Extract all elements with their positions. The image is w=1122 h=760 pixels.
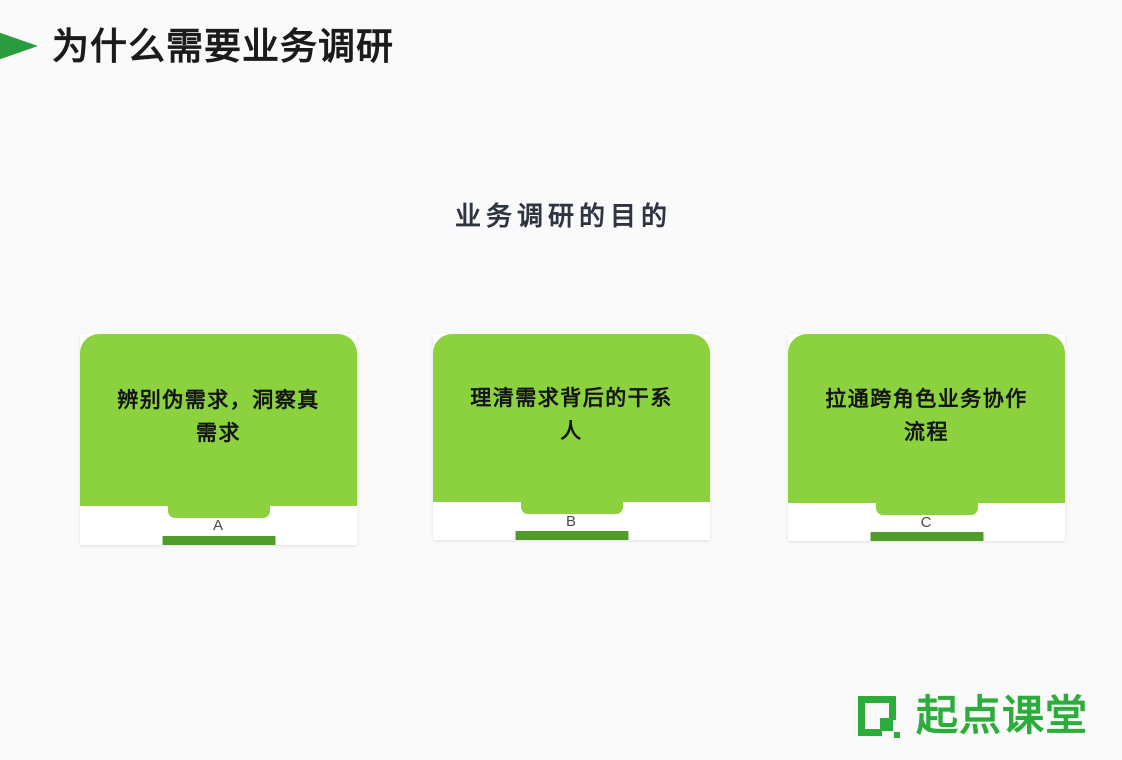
brand-logo: 起点课堂 <box>852 690 1088 742</box>
slide-header: 为什么需要业务调研 <box>0 14 1122 78</box>
page-title: 为什么需要业务调研 <box>52 28 394 65</box>
card-label: A <box>80 518 357 533</box>
card-text: 拉通跨角色业务协作流程 <box>819 384 1034 449</box>
brand-logo-text: 起点课堂 <box>916 695 1088 737</box>
card-label: C <box>788 515 1065 530</box>
card-label: B <box>433 514 710 529</box>
card-body: 拉通跨角色业务协作流程 <box>788 334 1065 503</box>
card-footbar <box>162 536 275 545</box>
triangle-right-icon <box>0 24 40 68</box>
card-body: 理清需求背后的干系人 <box>433 334 710 502</box>
card-item[interactable]: 辨别伪需求，洞察真需求 A <box>80 334 357 545</box>
card-footbar <box>870 532 983 541</box>
card-group: 辨别伪需求，洞察真需求 A 理清需求背后的干系人 B 拉通跨角色业务协作流程 C <box>80 334 1066 549</box>
card-item[interactable]: 拉通跨角色业务协作流程 C <box>788 334 1065 541</box>
card-item[interactable]: 理清需求背后的干系人 B <box>433 334 710 540</box>
slide-canvas: 为什么需要业务调研 业务调研的目的 辨别伪需求，洞察真需求 A 理清需求背后的干… <box>0 0 1122 760</box>
square-q-logo-icon <box>852 690 904 742</box>
card-footbar <box>515 531 628 540</box>
card-text: 理清需求背后的干系人 <box>464 383 679 448</box>
section-subtitle: 业务调研的目的 <box>0 203 1122 229</box>
card-body: 辨别伪需求，洞察真需求 <box>80 334 357 506</box>
card-text: 辨别伪需求，洞察真需求 <box>111 385 326 450</box>
